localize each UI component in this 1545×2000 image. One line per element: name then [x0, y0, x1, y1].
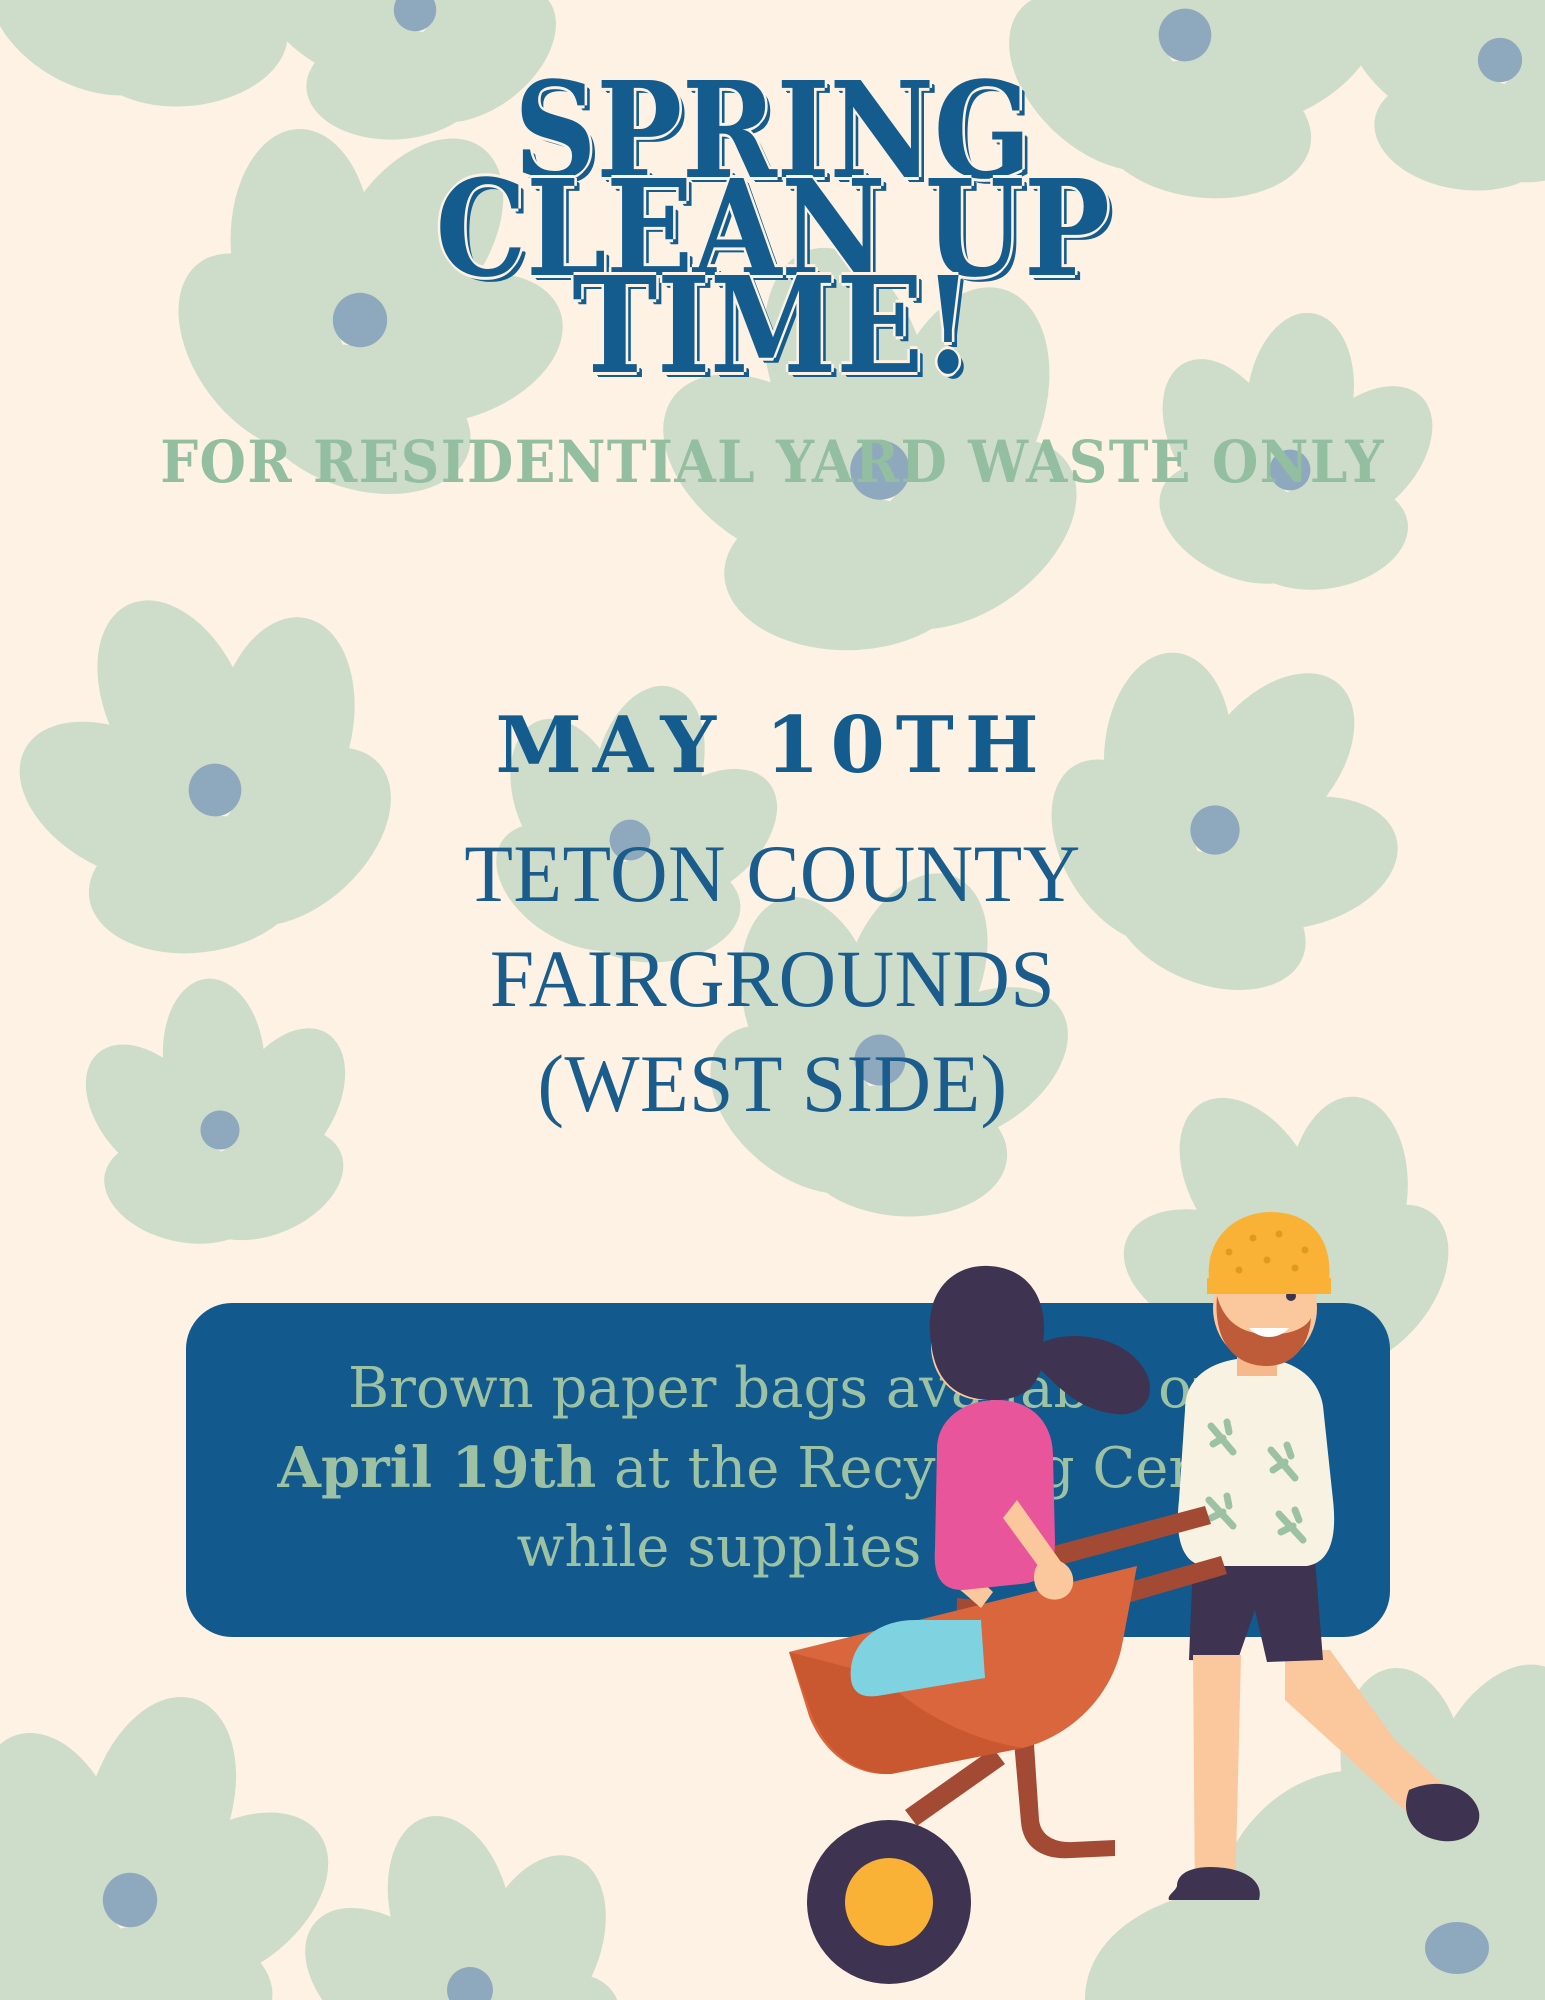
man-eye [1286, 1291, 1296, 1301]
bush-shape [1085, 1770, 1545, 2000]
wheelbarrow-hub [845, 1858, 933, 1946]
callout-date-strong: April 19th [278, 1435, 597, 1501]
man-beanie [1209, 1212, 1330, 1280]
callout-line-2: April 19th at the Recycling Center, [218, 1429, 1358, 1509]
callout-line-1: Brown paper bags available on [218, 1349, 1358, 1429]
subtitle-yard-waste-only: FOR RESIDENTIAL YARD WASTE ONLY [62, 428, 1483, 496]
headline: SPRING CLEAN UP TIME! [0, 76, 1545, 383]
callout-line-2-rest: at the Recycling Center, [596, 1436, 1298, 1501]
venue-line-fairgrounds: FAIRGROUNDS [23, 927, 1522, 1032]
man-front-shoe [1169, 1867, 1260, 1900]
callout-line-3: while supplies last. [218, 1508, 1358, 1588]
man-back-leg [1285, 1650, 1445, 1820]
bush-flower-center [1425, 1922, 1489, 1974]
man-back-shoe [1406, 1784, 1479, 1841]
event-date: MAY 10TH [0, 700, 1545, 791]
venue-block: TETON COUNTY FAIRGROUNDS (WEST SIDE) [0, 822, 1545, 1137]
wheelbarrow-tire [807, 1820, 971, 1984]
venue-line-west-side: (WEST SIDE) [23, 1032, 1522, 1137]
beanie-knit-dots [1226, 1231, 1309, 1274]
wheelbarrow-rear-leg [1013, 1730, 1115, 1858]
headline-line-3: TIME! [108, 271, 1437, 383]
man-front-leg [1193, 1655, 1241, 1900]
callout-box: Brown paper bags available on April 19th… [186, 1303, 1390, 1637]
venue-line-county: TETON COUNTY [23, 822, 1522, 927]
wheelbarrow-tray-shade [789, 1652, 1023, 1774]
man-beanie-brim [1207, 1278, 1331, 1294]
wheelbarrow-wheel-arm [905, 1748, 1005, 1826]
callout-text: Brown paper bags available on April 19th… [186, 1349, 1390, 1588]
flyer-poster: SPRING CLEAN UP TIME! FOR RESIDENTIAL YA… [0, 0, 1545, 2000]
